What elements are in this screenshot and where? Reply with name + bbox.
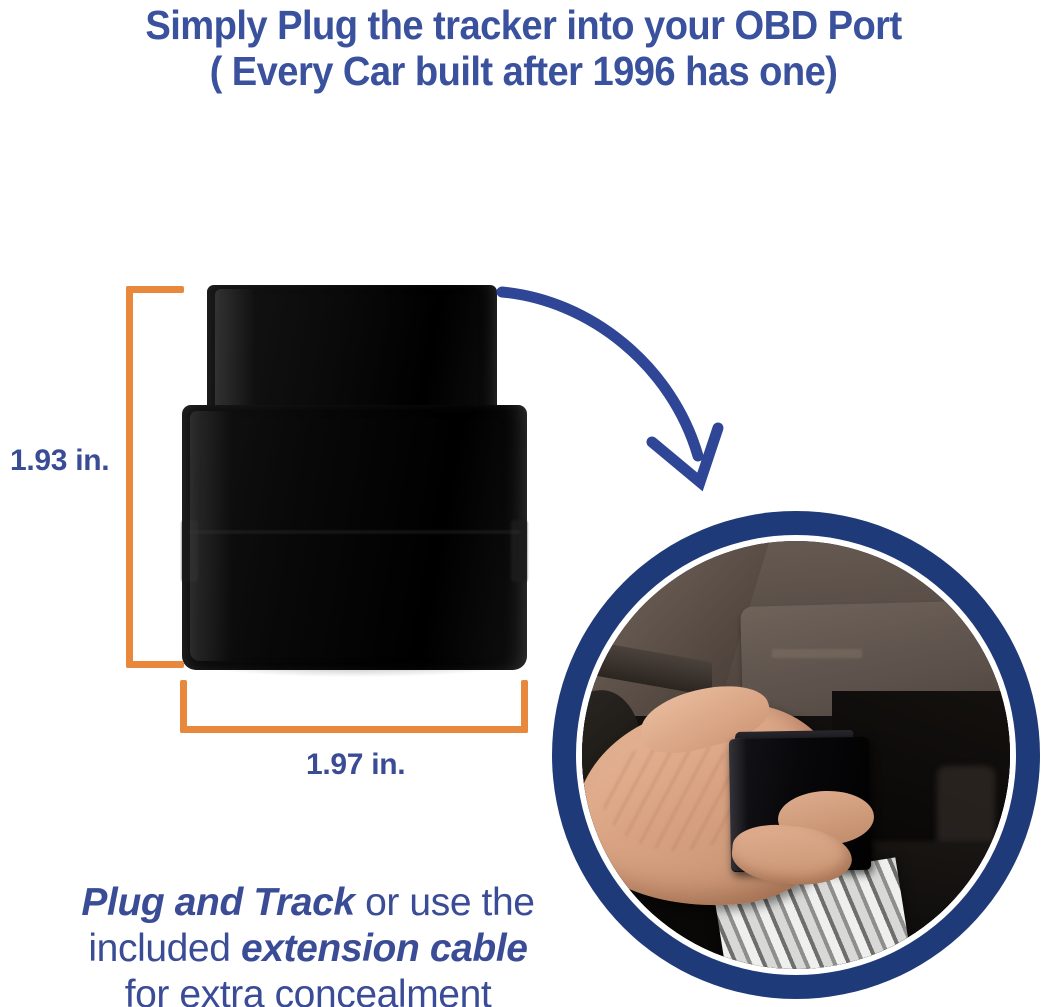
device-body xyxy=(182,405,527,670)
height-bracket-vertical xyxy=(126,286,133,668)
caption-line-3: for extra concealment xyxy=(28,972,588,1007)
headline-line-2: ( Every Car built after 1996 has one) xyxy=(37,48,1011,94)
device-drop-shadow xyxy=(196,663,514,677)
height-bracket-bottom-arm xyxy=(126,661,184,668)
installation-photo-circle xyxy=(552,511,1040,999)
page-title: Simply Plug the tracker into your OBD Po… xyxy=(37,2,1011,94)
caption-line-1: Plug and Track or use the xyxy=(28,880,588,926)
width-bracket-left-arm xyxy=(180,680,187,733)
device-top-highlight xyxy=(215,289,255,419)
height-bracket-top-arm xyxy=(126,286,184,293)
installation-photo-image xyxy=(582,541,1010,969)
width-bracket-horizontal xyxy=(180,726,528,733)
caption-line-1-rest: or use the xyxy=(355,881,535,924)
caption-line-2: included extension cable xyxy=(28,926,588,972)
headline-line-1: Simply Plug the tracker into your OBD Po… xyxy=(37,2,1011,48)
infographic-canvas: Simply Plug the tracker into your OBD Po… xyxy=(0,0,1047,1007)
device-notch-right xyxy=(511,520,527,582)
device-body-highlight xyxy=(190,411,232,661)
caption-block: Plug and Track or use the included exten… xyxy=(28,880,588,1007)
width-bracket-right-arm xyxy=(521,680,528,733)
device-seam-line xyxy=(190,531,520,533)
height-dimension-label: 1.93 in. xyxy=(10,444,109,478)
width-dimension-label: 1.97 in. xyxy=(306,748,405,782)
caption-emphasis-plug-and-track: Plug and Track xyxy=(81,881,354,924)
photo-panel-embossed-text xyxy=(772,649,862,658)
caption-line-2-pre: included xyxy=(88,927,241,970)
caption-emphasis-extension-cable: extension cable xyxy=(241,927,528,970)
curved-arrow-icon xyxy=(480,270,780,520)
